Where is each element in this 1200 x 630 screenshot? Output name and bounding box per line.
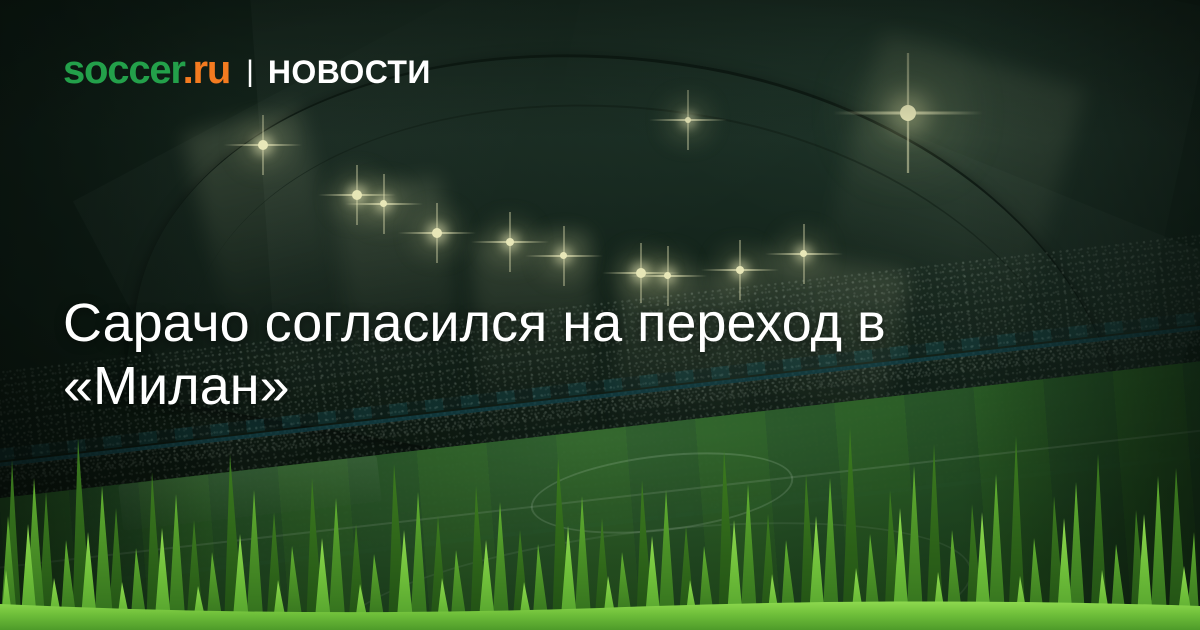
- section-label-news: НОВОСТИ: [268, 56, 431, 88]
- foreground-grass: [0, 420, 1200, 630]
- site-header: soccer.ru | НОВОСТИ: [63, 50, 431, 90]
- logo-main-text: soccer: [63, 48, 183, 92]
- header-separator: |: [246, 57, 254, 87]
- soccer-ru-logo[interactable]: soccer.ru: [63, 50, 230, 90]
- logo-tld-text: .ru: [183, 48, 231, 92]
- page-title: Сарачо согласился на переход в «Милан»: [63, 292, 1023, 418]
- news-share-card: soccer.ru | НОВОСТИ Сарачо согласился на…: [0, 0, 1200, 630]
